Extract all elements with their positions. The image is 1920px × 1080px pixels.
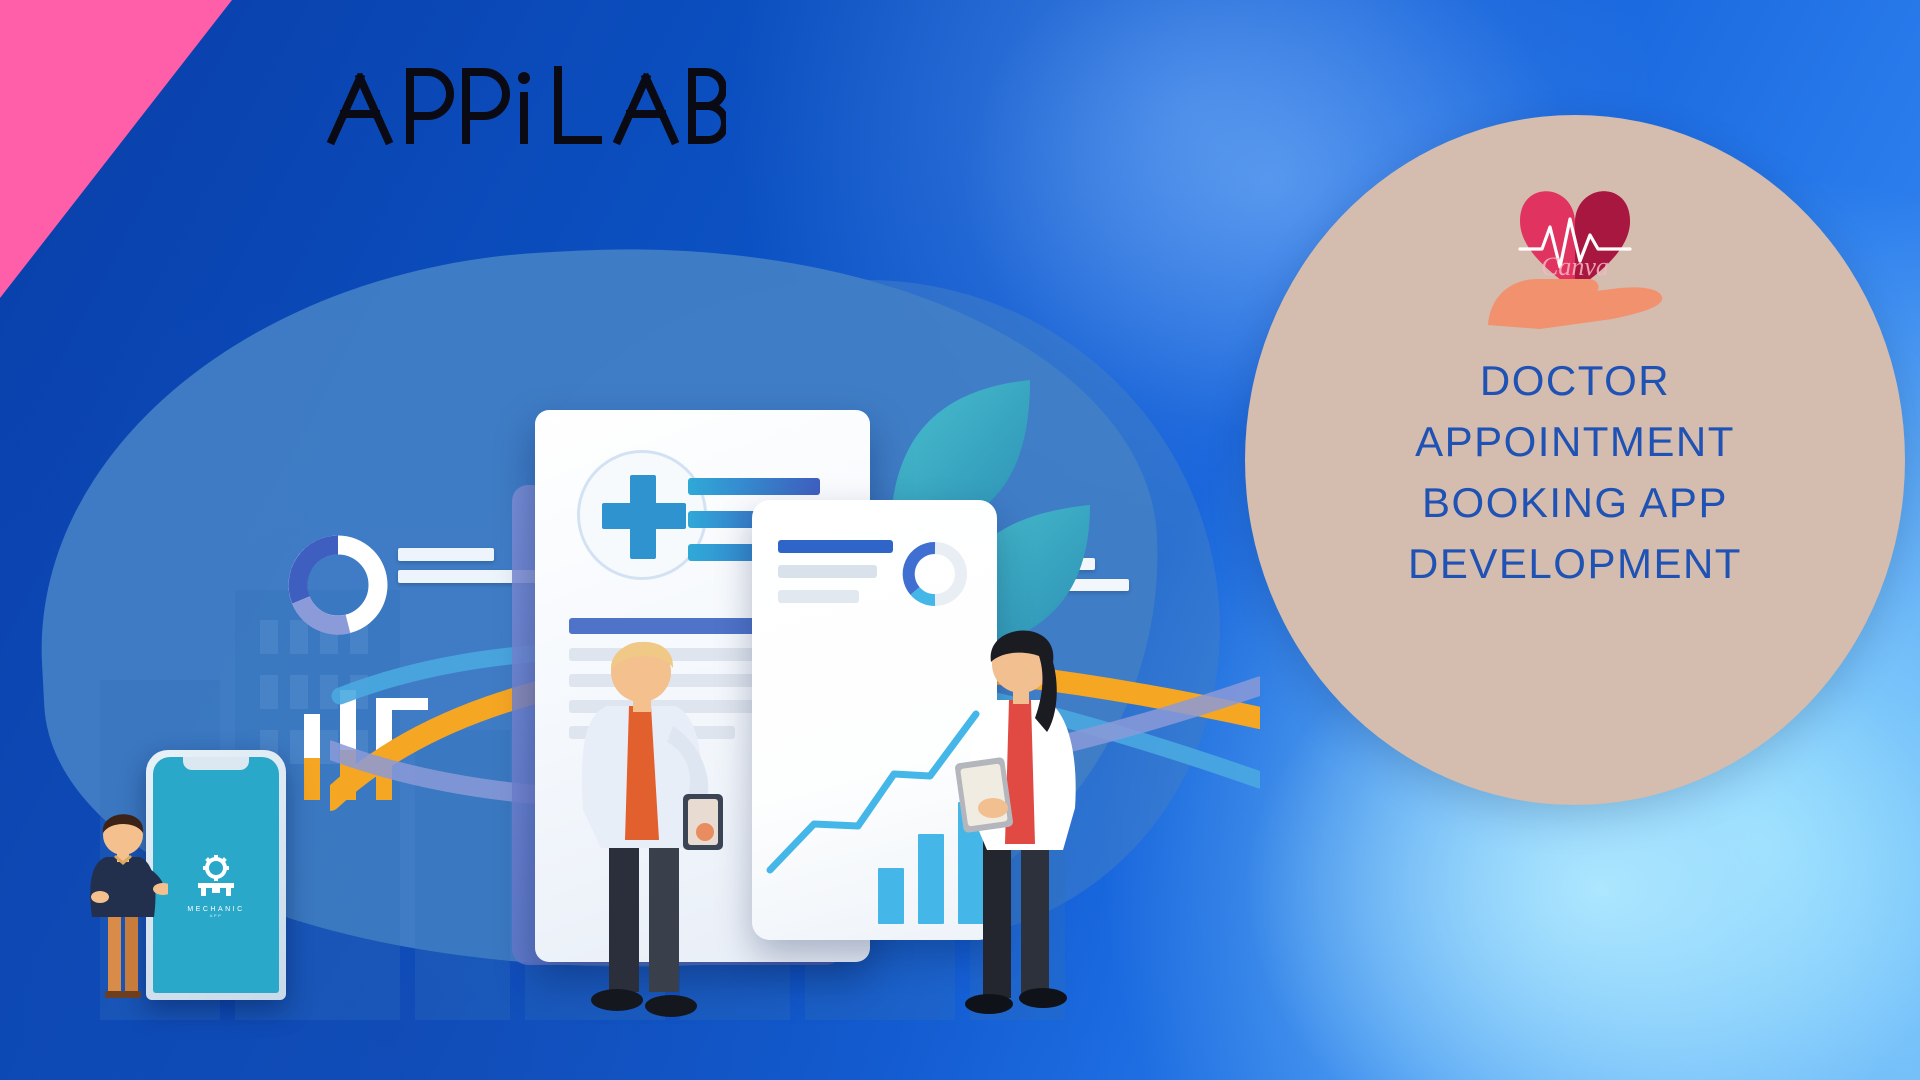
phone-app-name: MECHANIC (153, 906, 279, 913)
pink-corner-triangle (0, 0, 232, 298)
badge-title: DOCTOR APPOINTMENT BOOKING APP DEVELOPME… (1408, 351, 1742, 595)
badge-title-line-2: APPOINTMENT (1408, 412, 1742, 473)
pointing-person-figure (78, 805, 168, 1000)
poster-canvas: MECHANIC APP (0, 0, 1920, 1080)
headline-badge: Canva DOCTOR APPOINTMENT BOOKING APP DEV… (1245, 115, 1905, 805)
badge-title-line-1: DOCTOR (1408, 351, 1742, 412)
card-line-group (778, 540, 893, 615)
phone-app-logo: MECHANIC APP (153, 855, 279, 918)
badge-title-line-3: BOOKING APP (1408, 473, 1742, 534)
doctor-female-figure (935, 600, 1115, 1035)
badge-title-line-4: DEVELOPMENT (1408, 534, 1742, 595)
brand-logo (326, 62, 726, 146)
phone-app-tagline: APP (153, 913, 279, 918)
doctor-male-figure (555, 610, 735, 1030)
phone-notch (183, 757, 249, 770)
phone-screen[interactable]: MECHANIC APP (153, 757, 279, 993)
gear-person-icon (192, 855, 240, 897)
hand-holding-heart-icon: Canva (1480, 161, 1670, 331)
appilab-wordmark-icon (326, 62, 726, 146)
canva-watermark: Canva (1541, 252, 1609, 281)
